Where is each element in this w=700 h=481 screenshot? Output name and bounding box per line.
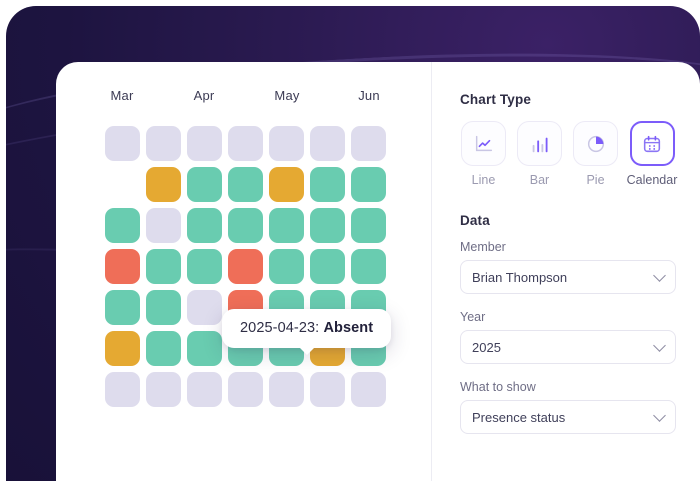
month-label-may: May	[274, 88, 299, 103]
heatmap-cell[interactable]	[146, 331, 181, 366]
field-label-what-to-show: What to show	[460, 380, 676, 394]
heatmap-cell[interactable]	[269, 208, 304, 243]
chart-type-pie[interactable]: Pie	[572, 121, 619, 187]
heatmap-cell[interactable]	[146, 208, 181, 243]
select-what-to-show[interactable]: Presence status	[460, 400, 676, 434]
content-card: MarAprMayJun 2025-04-23: Absent Chart Ty…	[56, 62, 700, 481]
heatmap-tooltip: 2025-04-23: Absent	[222, 309, 391, 348]
chart-type-label: Line	[472, 173, 496, 187]
tooltip-value: Absent	[323, 320, 373, 336]
select-value: Brian Thompson	[472, 270, 567, 285]
heatmap-cell[interactable]	[351, 167, 386, 202]
controls-panel: Chart Type LineBarPieCalendar Data Membe…	[431, 62, 700, 481]
chart-type-calendar[interactable]: Calendar	[628, 121, 676, 187]
heatmap-cell[interactable]	[228, 167, 263, 202]
heatmap-cell[interactable]	[187, 208, 222, 243]
heatmap-cell[interactable]	[310, 208, 345, 243]
heatmap-cell[interactable]	[269, 126, 304, 161]
heatmap-cell[interactable]	[105, 208, 140, 243]
month-label-jun: Jun	[358, 88, 380, 103]
heatmap-cell[interactable]	[310, 249, 345, 284]
select-value: 2025	[472, 340, 501, 355]
chart-type-bar[interactable]: Bar	[516, 121, 563, 187]
month-label-mar: Mar	[111, 88, 134, 103]
field-label-member: Member	[460, 240, 676, 254]
heatmap-cell[interactable]	[105, 249, 140, 284]
field-label-year: Year	[460, 310, 676, 324]
heatmap-cell[interactable]	[187, 167, 222, 202]
heatmap-cell[interactable]	[228, 249, 263, 284]
chevron-down-icon	[653, 339, 666, 352]
select-year[interactable]: 2025	[460, 330, 676, 364]
heatmap-cell[interactable]	[146, 167, 181, 202]
heatmap-cell[interactable]	[269, 372, 304, 407]
heatmap-cell[interactable]	[187, 331, 222, 366]
heatmap-cell[interactable]	[228, 372, 263, 407]
chart-type-line[interactable]: Line	[460, 121, 507, 187]
line-chart-icon[interactable]	[461, 121, 506, 166]
chart-type-label: Pie	[586, 173, 604, 187]
select-member[interactable]: Brian Thompson	[460, 260, 676, 294]
heatmap-cell[interactable]	[187, 249, 222, 284]
heatmap-cell[interactable]	[146, 290, 181, 325]
heatmap-cell[interactable]	[187, 126, 222, 161]
chart-type-label: Calendar	[627, 173, 678, 187]
heatmap-cell[interactable]	[105, 331, 140, 366]
heatmap-cell[interactable]	[146, 126, 181, 161]
tooltip-date: 2025-04-23:	[240, 320, 319, 336]
heatmap-cell[interactable]	[105, 126, 140, 161]
heatmap-cell[interactable]	[351, 126, 386, 161]
heatmap-cell[interactable]	[310, 372, 345, 407]
chart-type-heading: Chart Type	[460, 92, 676, 107]
heatmap-cell[interactable]	[146, 372, 181, 407]
calendar-icon[interactable]	[630, 121, 675, 166]
app-frame: MarAprMayJun 2025-04-23: Absent Chart Ty…	[0, 0, 700, 481]
heatmap-cell	[105, 167, 140, 202]
heatmap-cell[interactable]	[105, 372, 140, 407]
heatmap-cell[interactable]	[310, 167, 345, 202]
heatmap-cell[interactable]	[228, 208, 263, 243]
heatmap-cell[interactable]	[351, 208, 386, 243]
heatmap-cell[interactable]	[269, 249, 304, 284]
heatmap-cell[interactable]	[351, 249, 386, 284]
bar-chart-icon[interactable]	[517, 121, 562, 166]
chevron-down-icon	[653, 269, 666, 282]
heatmap-cell[interactable]	[310, 126, 345, 161]
data-heading: Data	[460, 213, 676, 228]
heatmap-cell[interactable]	[269, 167, 304, 202]
month-axis: MarAprMayJun	[56, 88, 431, 110]
heatmap-cell[interactable]	[187, 290, 222, 325]
chevron-down-icon	[653, 409, 666, 422]
heatmap-cell[interactable]	[351, 372, 386, 407]
select-value: Presence status	[472, 410, 565, 425]
heatmap-cell[interactable]	[187, 372, 222, 407]
calendar-heatmap-panel: MarAprMayJun 2025-04-23: Absent	[56, 62, 431, 481]
chart-type-label: Bar	[530, 173, 549, 187]
pie-chart-icon[interactable]	[573, 121, 618, 166]
chart-type-selector[interactable]: LineBarPieCalendar	[460, 121, 676, 187]
data-fields: MemberBrian ThompsonYear2025What to show…	[460, 240, 676, 434]
heatmap-cell[interactable]	[105, 290, 140, 325]
heatmap-cell[interactable]	[228, 126, 263, 161]
heatmap-cell[interactable]	[146, 249, 181, 284]
month-label-apr: Apr	[194, 88, 215, 103]
heatmap-grid[interactable]	[105, 126, 392, 407]
